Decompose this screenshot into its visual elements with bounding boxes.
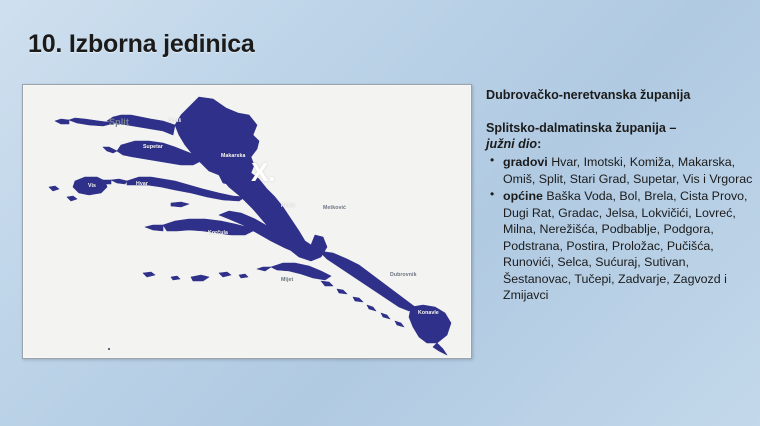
heading-splitsko-main: Splitsko-dalmatinska županija – xyxy=(486,121,676,135)
bullet-text-opcine: Baška Voda, Bol, Brela, Cista Provo, Dug… xyxy=(503,189,748,302)
heading-dubrovacko: Dubrovačko-neretvanska županija xyxy=(486,88,754,104)
bullet-lead-opcine: općine xyxy=(503,189,543,203)
bullet-lead-gradovi: gradovi xyxy=(503,155,548,169)
heading-splitsko-italic: južni dio xyxy=(486,137,537,151)
list-item: općine Baška Voda, Bol, Brela, Cista Pro… xyxy=(486,188,754,304)
content-column: Dubrovačko-neretvanska županija Splitsko… xyxy=(486,88,754,305)
list-item: gradovi Hvar, Imotski, Komiža, Makarska,… xyxy=(486,154,754,187)
croatia-dalmatia-map xyxy=(23,85,471,358)
heading-splitsko: Splitsko-dalmatinska županija – južni di… xyxy=(486,120,754,153)
municipality-list: gradovi Hvar, Imotski, Komiža, Makarska,… xyxy=(486,154,754,304)
page-title: 10. Izborna jedinica xyxy=(28,30,255,59)
map-dot xyxy=(108,348,110,350)
map-panel: Split Omiš Supetar Makarska Hvar Vis Kor… xyxy=(22,84,472,359)
presentation-slide: 10. Izborna jedinica xyxy=(0,0,760,426)
heading-splitsko-colon: : xyxy=(537,137,541,151)
